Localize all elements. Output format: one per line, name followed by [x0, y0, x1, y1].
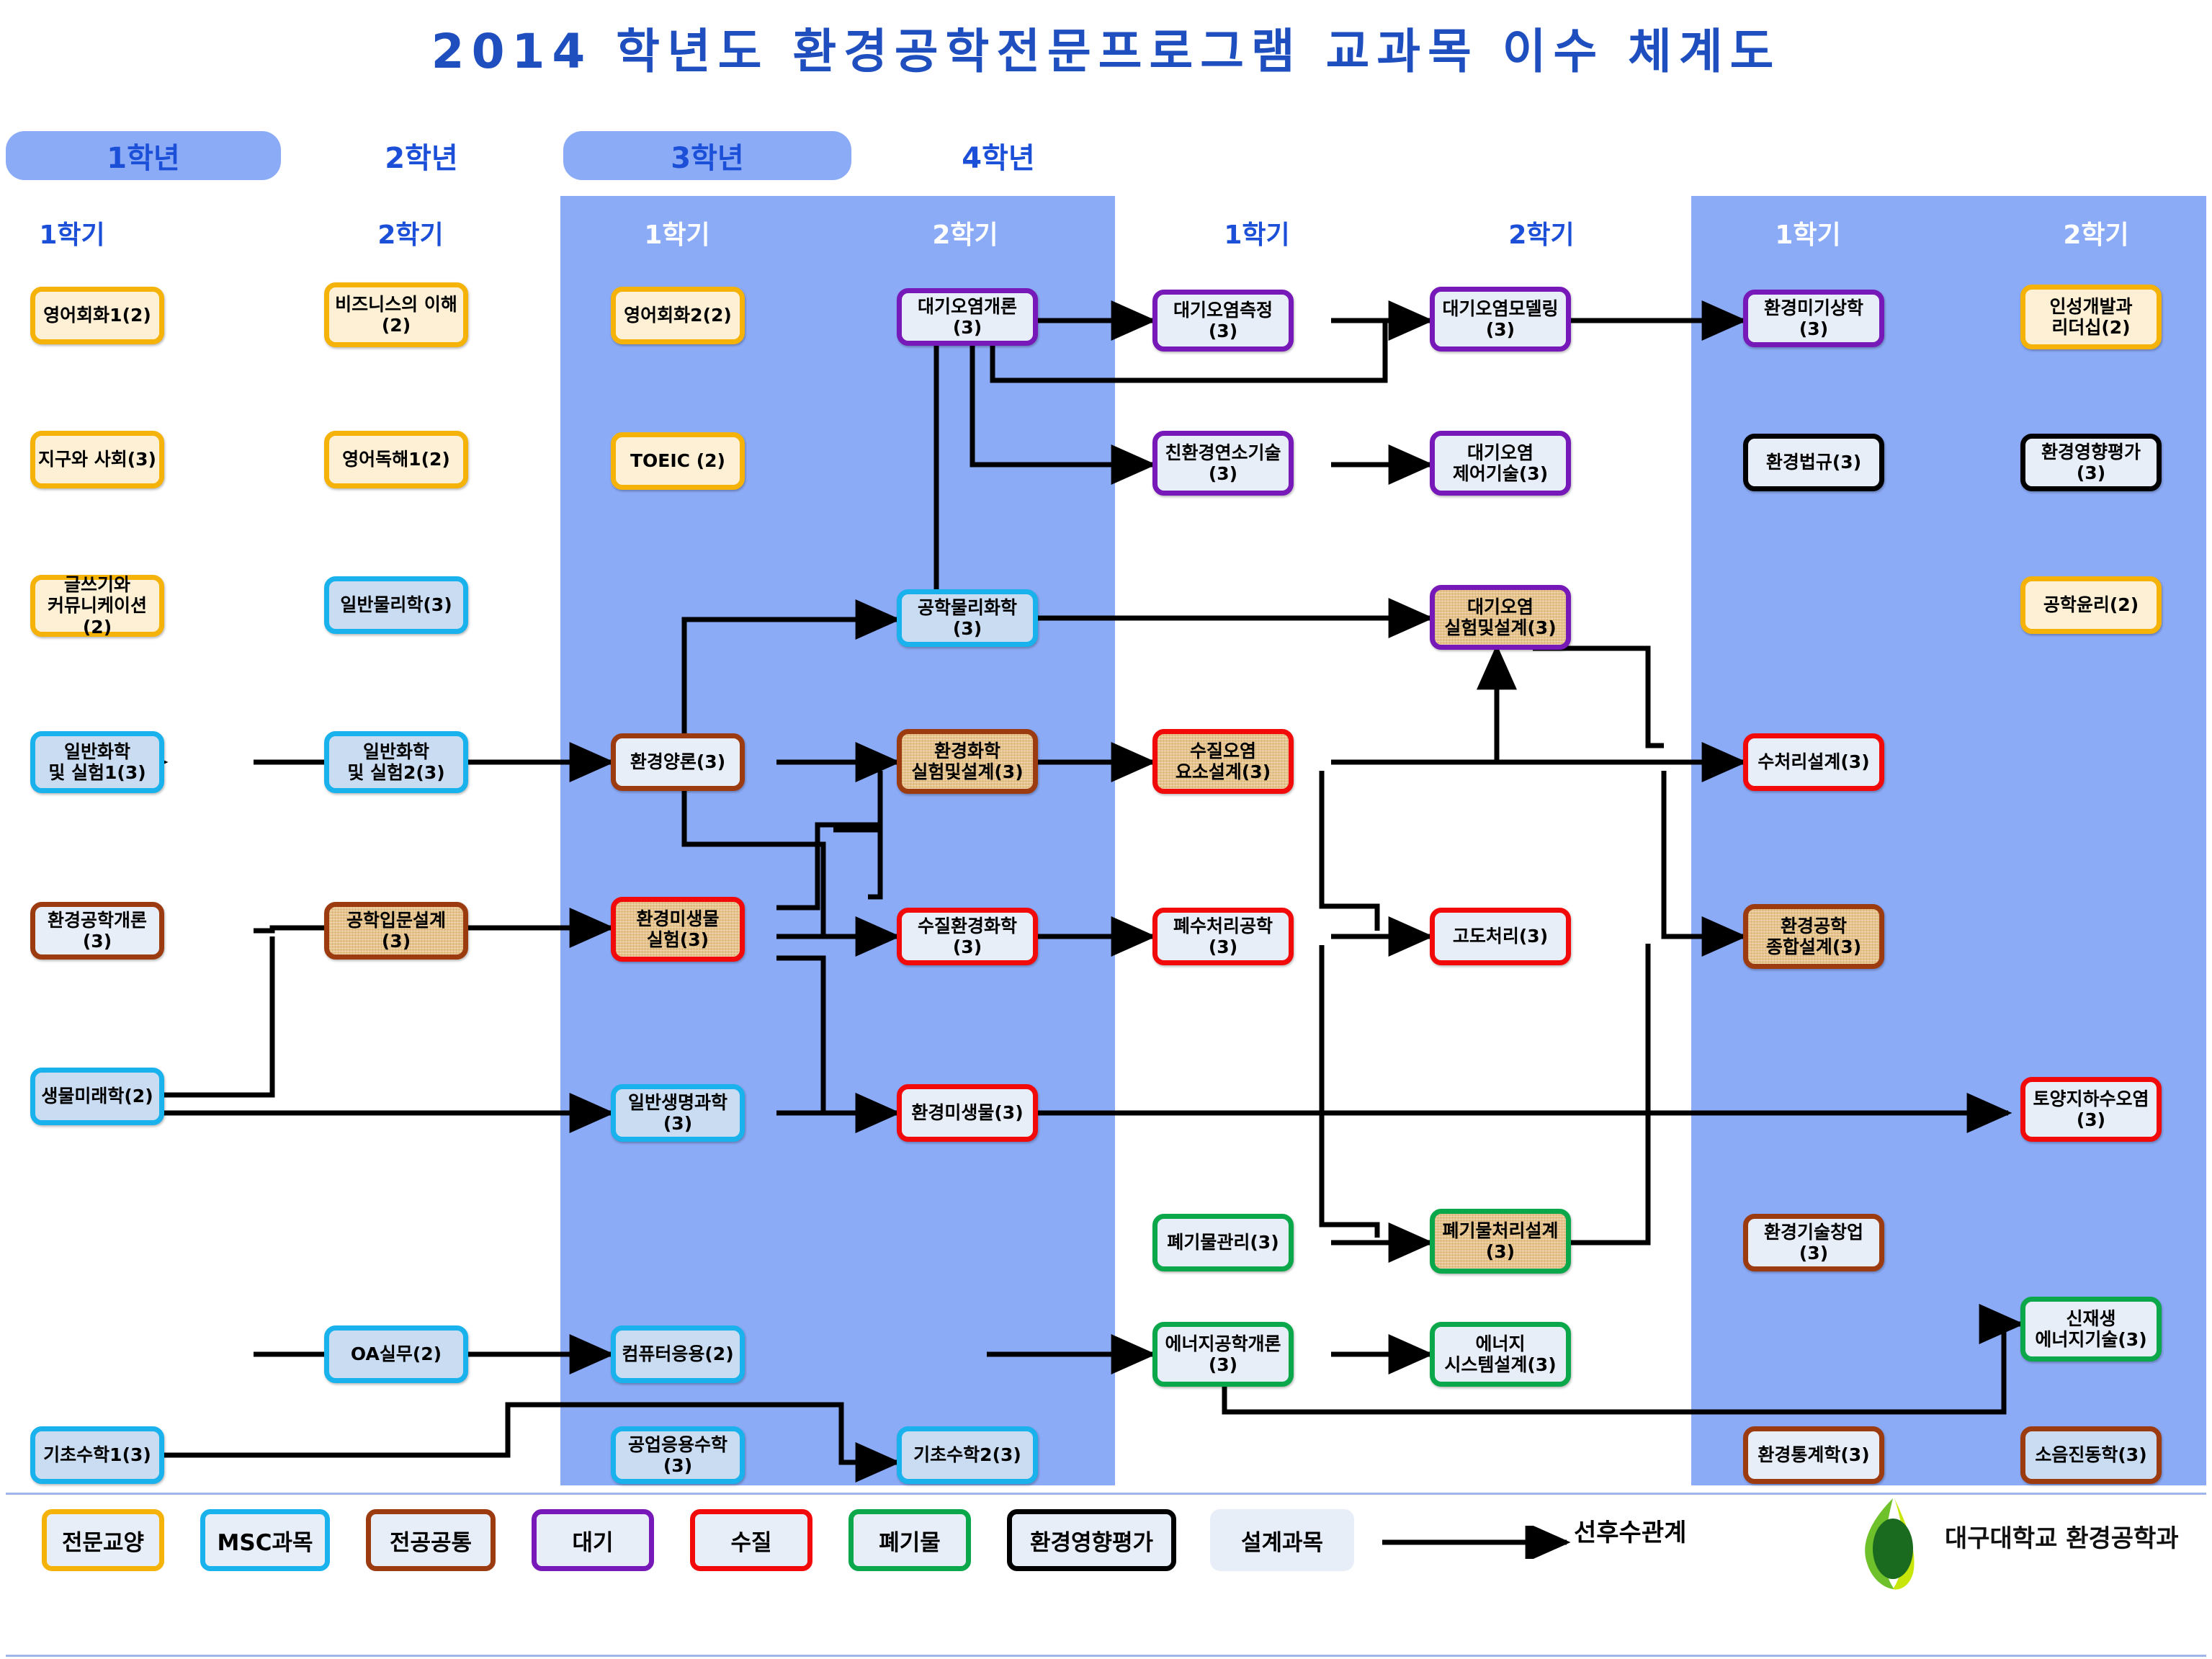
course-label: 신재생 에너지기술(3) — [2035, 1308, 2146, 1351]
course-label: 폐수처리공학(3) — [1160, 916, 1286, 958]
course-label: 일반화학 및 실험1(3) — [48, 741, 145, 784]
legend-item-msc[interactable]: MSC과목 — [200, 1509, 330, 1571]
course-label: 에너지공학개론 (3) — [1165, 1333, 1281, 1376]
year-header-3: 3학년 — [563, 131, 851, 180]
semester-label-y1s1: 1학기 — [0, 214, 151, 251]
course-label: 대기오염측정(3) — [1160, 300, 1286, 342]
course-label: 기초수학1(3) — [43, 1444, 151, 1466]
course-label: 환경영향평가(3) — [2028, 442, 2154, 484]
course-box[interactable]: 환경기술창업(3) — [1743, 1214, 1884, 1271]
course-box[interactable]: 생물미래학(2) — [30, 1068, 164, 1125]
course-box[interactable]: 공학물리화학(3) — [897, 589, 1038, 647]
university-logo-label: 대구대학교 환경공학과 — [1945, 1519, 2179, 1554]
year-header-4-label: 4학년 — [962, 135, 1034, 176]
course-label: 영어회화2(2) — [624, 305, 732, 326]
course-label: 에너지 시스템설계(3) — [1444, 1333, 1556, 1376]
course-box[interactable]: 환경미생물(3) — [897, 1084, 1038, 1142]
legend-label: 수질 — [730, 1524, 771, 1557]
course-box[interactable]: 폐수처리공학(3) — [1152, 908, 1294, 965]
legend-item-eia[interactable]: 환경영향평가 — [1007, 1509, 1176, 1571]
legend-item-design[interactable]: 설계과목 — [1210, 1509, 1354, 1571]
course-box[interactable]: 영어회화1(2) — [30, 287, 164, 344]
course-box[interactable]: 수질환경화학(3) — [897, 908, 1038, 965]
year-band-4 — [1691, 196, 2206, 1485]
course-box[interactable]: 폐기물처리설계 (3) — [1430, 1209, 1571, 1274]
course-box[interactable]: 환경법규(3) — [1743, 434, 1884, 491]
course-label: 환경법규(3) — [1766, 452, 1861, 473]
course-box[interactable]: 고도처리(3) — [1430, 908, 1571, 965]
course-box[interactable]: 환경통계학(3) — [1743, 1426, 1884, 1484]
course-box[interactable]: 일반화학 및 실험1(3) — [30, 731, 164, 793]
course-box[interactable]: 환경공학개론(3) — [30, 902, 164, 960]
course-box[interactable]: 지구와 사회(3) — [30, 431, 164, 488]
course-label: 수질환경화학(3) — [905, 916, 1030, 958]
course-box[interactable]: 컴퓨터응용(2) — [611, 1325, 745, 1383]
university-logo-icon — [1851, 1497, 1938, 1591]
course-label: 대기오염개론(3) — [905, 296, 1030, 339]
course-box[interactable]: 영어회화2(2) — [611, 287, 745, 344]
course-box[interactable]: 비즈니스의 이해 (2) — [324, 282, 468, 347]
course-label: 환경미생물 실험(3) — [636, 908, 719, 951]
semester-label-y2s2: 2학기 — [886, 214, 1044, 251]
course-label: 기초수학2(3) — [913, 1444, 1021, 1466]
course-label: 일반생명과학(3) — [619, 1092, 737, 1135]
course-label: 소음진동학(3) — [2035, 1444, 2146, 1466]
legend-item-general[interactable]: 전문교양 — [42, 1509, 164, 1571]
page-title: 2014 학년도 환경공학전문프로그램 교과목 이수 체계도 — [0, 13, 2212, 82]
course-box[interactable]: 폐기물관리(3) — [1152, 1214, 1294, 1271]
course-label: 폐기물처리설계 (3) — [1442, 1220, 1558, 1263]
course-label: 컴퓨터응용(2) — [622, 1343, 733, 1365]
year-header-1-label: 1학년 — [107, 135, 179, 176]
course-label: 공학물리화학(3) — [905, 597, 1030, 640]
course-label: 환경공학 종합설계(3) — [1766, 916, 1861, 958]
course-box[interactable]: 인성개발과 리더십(2) — [2020, 285, 2162, 349]
curriculum-flowchart: 2014 학년도 환경공학전문프로그램 교과목 이수 체계도 1학년 2학년 3… — [0, 0, 2212, 1659]
course-box[interactable]: 일반생명과학(3) — [611, 1084, 745, 1142]
course-label: 일반화학 및 실험2(3) — [347, 741, 444, 784]
legend-item-major[interactable]: 전공공통 — [366, 1509, 496, 1571]
course-box[interactable]: 소음진동학(3) — [2020, 1426, 2162, 1484]
course-box[interactable]: 토양지하수오염 (3) — [2020, 1077, 2162, 1142]
legend-item-air[interactable]: 대기 — [532, 1509, 654, 1571]
course-label: 환경화학 실험및설계(3) — [911, 741, 1023, 783]
legend-item-water[interactable]: 수질 — [690, 1509, 812, 1571]
course-label: 환경통계학(3) — [1757, 1444, 1869, 1466]
course-label: 인성개발과 리더십(2) — [2049, 296, 2132, 339]
year-header-1: 1학년 — [6, 131, 281, 180]
course-box[interactable]: 에너지 시스템설계(3) — [1430, 1322, 1571, 1387]
course-box[interactable]: 기초수학2(3) — [897, 1426, 1038, 1484]
course-label: 지구와 사회(3) — [38, 449, 156, 470]
legend-label: 전문교양 — [62, 1524, 144, 1557]
course-label: 친환경연소기술 (3) — [1165, 442, 1281, 485]
course-box[interactable]: 대기오염개론(3) — [897, 288, 1038, 346]
course-label: 공학입문설계(3) — [332, 910, 460, 952]
course-label: 수처리설계(3) — [1757, 751, 1869, 773]
course-label: 대기오염모델링 (3) — [1442, 298, 1558, 341]
course-label: 대기오염 실험및설계(3) — [1444, 596, 1556, 639]
semester-label-y2s1: 1학기 — [598, 214, 756, 251]
course-box[interactable]: 공학입문설계(3) — [324, 902, 468, 960]
legend-label: 환경영향평가 — [1030, 1524, 1153, 1557]
legend-arrow-label: 선후수관계 — [1574, 1513, 1686, 1548]
course-label: 글쓰기와 커뮤니케이션(2) — [38, 574, 156, 638]
course-box[interactable]: 대기오염 제어기술(3) — [1430, 431, 1571, 496]
course-box[interactable]: 수처리설계(3) — [1743, 733, 1884, 791]
course-label: 수질오염 요소설계(3) — [1176, 741, 1271, 783]
semester-label-y3s2: 2학기 — [1462, 214, 1621, 251]
course-label: 환경양론(3) — [630, 751, 725, 773]
course-box[interactable]: 기초수학1(3) — [30, 1426, 164, 1484]
course-box[interactable]: 공학윤리(2) — [2020, 576, 2162, 634]
year-band-2 — [560, 196, 1115, 1485]
year-header-4: 4학년 — [854, 131, 1142, 180]
legend-label: 전공공통 — [390, 1524, 472, 1557]
year-header-2: 2학년 — [282, 131, 560, 180]
course-box[interactable]: 친환경연소기술 (3) — [1152, 431, 1294, 496]
course-box[interactable]: 대기오염 실험및설계(3) — [1430, 585, 1571, 650]
legend-label: 폐기물 — [879, 1524, 941, 1557]
course-box[interactable]: 환경공학 종합설계(3) — [1743, 904, 1884, 969]
course-label: 환경공학개론(3) — [38, 910, 156, 952]
course-box[interactable]: 환경양론(3) — [611, 733, 745, 791]
year-header-2-label: 2학년 — [385, 135, 457, 176]
course-box[interactable]: OA실무(2) — [324, 1325, 468, 1383]
course-box[interactable]: 일반물리학(3) — [324, 576, 468, 634]
course-box[interactable]: TOEIC (2) — [611, 432, 745, 490]
course-box[interactable]: 대기오염측정(3) — [1152, 290, 1294, 352]
legend-label: MSC과목 — [218, 1524, 313, 1557]
semester-label-y3s1: 1학기 — [1178, 214, 1336, 251]
course-label: 토양지하수오염 (3) — [2033, 1088, 2149, 1131]
course-label: 일반물리학(3) — [340, 594, 452, 616]
course-label: 비즈니스의 이해 (2) — [335, 294, 457, 336]
course-label: 환경기술창업(3) — [1751, 1222, 1876, 1264]
course-label: OA실무(2) — [351, 1343, 442, 1365]
course-box[interactable]: 에너지공학개론 (3) — [1152, 1322, 1294, 1387]
course-label: 영어독해1(2) — [342, 449, 450, 470]
course-box[interactable]: 수질오염 요소설계(3) — [1152, 729, 1294, 794]
course-box[interactable]: 환경미생물 실험(3) — [611, 897, 745, 962]
course-label: 환경미생물(3) — [911, 1102, 1023, 1124]
semester-label-y4s2: 2학기 — [2017, 214, 2175, 251]
course-box[interactable]: 환경미기상학(3) — [1743, 290, 1884, 347]
course-box[interactable]: 신재생 에너지기술(3) — [2020, 1297, 2162, 1361]
course-box[interactable]: 대기오염모델링 (3) — [1430, 287, 1571, 352]
course-box[interactable]: 공업응용수학(3) — [611, 1426, 745, 1484]
course-label: 공학윤리(2) — [2043, 594, 2139, 616]
course-box[interactable]: 환경영향평가(3) — [2020, 434, 2162, 491]
course-box[interactable]: 영어독해1(2) — [324, 431, 468, 488]
course-label: 환경미기상학(3) — [1751, 298, 1876, 340]
semester-label-y1s2: 2학기 — [331, 214, 490, 251]
course-box[interactable]: 환경화학 실험및설계(3) — [897, 729, 1038, 794]
legend-label: 설계과목 — [1241, 1524, 1323, 1557]
legend-label: 대기 — [572, 1524, 613, 1557]
course-label: 고도처리(3) — [1453, 926, 1548, 947]
course-label: 공업응용수학(3) — [619, 1434, 737, 1477]
course-label: TOEIC (2) — [630, 450, 725, 472]
year-header-3-label: 3학년 — [671, 135, 743, 176]
legend-arrow-icon — [1379, 1526, 1577, 1559]
semester-label-y4s1: 1학기 — [1729, 214, 1887, 251]
course-box[interactable]: 글쓰기와 커뮤니케이션(2) — [30, 575, 164, 637]
course-box[interactable]: 일반화학 및 실험2(3) — [324, 731, 468, 793]
course-label: 영어회화1(2) — [43, 305, 151, 326]
course-label: 대기오염 제어기술(3) — [1453, 442, 1548, 485]
course-label: 폐기물관리(3) — [1167, 1232, 1279, 1253]
course-label: 생물미래학(2) — [41, 1086, 153, 1107]
legend-item-waste[interactable]: 폐기물 — [848, 1509, 971, 1571]
